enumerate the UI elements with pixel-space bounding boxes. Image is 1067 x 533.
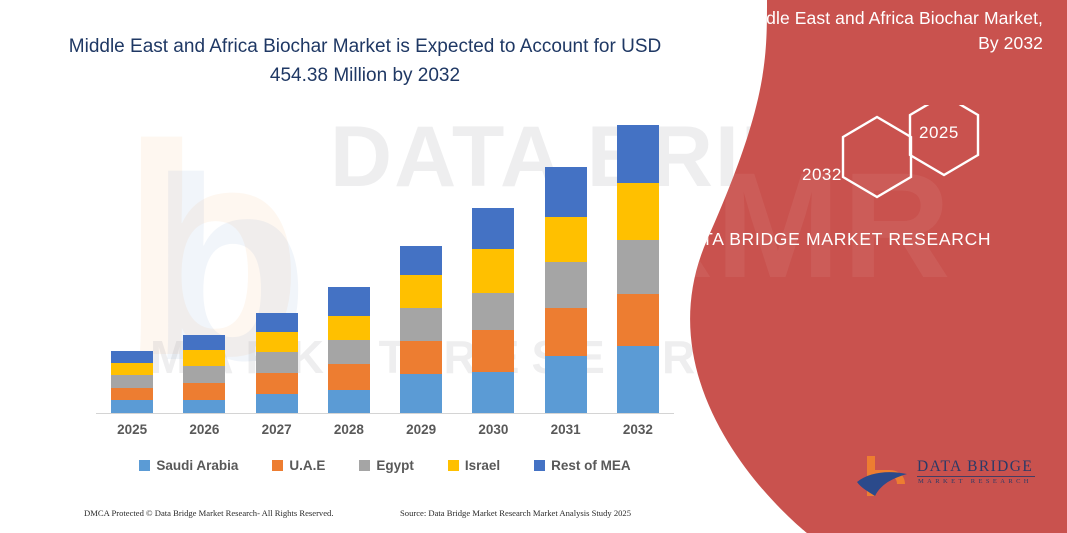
legend-item-rest-of-mea[interactable]: Rest of MEA [534,458,631,473]
bar-segment-saudi-arabia [328,390,370,414]
bar-2029[interactable] [400,246,442,414]
bar-segment-saudi-arabia [472,372,514,414]
hexagon-2025-label: 2025 [919,123,959,143]
legend-label: Israel [465,458,500,473]
hexagon-2032-shape [843,117,911,197]
footer-copyright: DMCA Protected © Data Bridge Market Rese… [84,508,334,518]
panel-title: Middle East and Africa Biochar Market, B… [713,6,1043,57]
bar-segment-rest-of-mea [328,287,370,315]
x-tick-2027: 2027 [247,422,307,437]
logo-tagline: MARKET RESEARCH [918,478,1032,485]
bar-segment-egypt [111,375,153,388]
bar-segment-u-a-e [400,341,442,374]
legend-swatch-icon [534,460,545,471]
legend-item-israel[interactable]: Israel [448,458,500,473]
bar-segment-u-a-e [256,373,298,394]
hexagon-2032-label: 2032 [802,165,842,185]
brand-name: DATA BRIDGE MARKET RESEARCH [647,226,1067,252]
x-axis-line [96,413,674,414]
bar-2026[interactable] [183,335,225,414]
bar-segment-egypt [617,240,659,293]
legend-label: Rest of MEA [551,458,631,473]
bar-segment-israel [617,183,659,241]
bar-segment-rest-of-mea [183,335,225,351]
bar-segment-saudi-arabia [617,346,659,414]
legend-item-u-a-e[interactable]: U.A.E [272,458,325,473]
bar-segment-rest-of-mea [256,313,298,333]
bar-segment-saudi-arabia [111,400,153,414]
bar-segment-saudi-arabia [400,374,442,414]
bar-segment-saudi-arabia [545,356,587,414]
bar-segment-israel [111,363,153,376]
infographic-canvas: b b DATA BRIDGE MARKET RESEARCH Middle E… [0,0,1067,533]
bar-segment-egypt [472,293,514,331]
legend-label: Saudi Arabia [156,458,238,473]
legend-label: Egypt [376,458,414,473]
x-tick-2028: 2028 [319,422,379,437]
bar-segment-u-a-e [472,330,514,372]
bar-segment-israel [545,217,587,262]
bar-segment-u-a-e [545,308,587,356]
legend-swatch-icon [272,460,283,471]
bar-segment-egypt [328,340,370,364]
bar-segment-israel [472,249,514,293]
x-tick-2032: 2032 [608,422,668,437]
bar-segment-rest-of-mea [400,246,442,275]
legend-swatch-icon [359,460,370,471]
bar-segment-rest-of-mea [617,125,659,183]
x-axis-tick-labels: 20252026202720282029203020312032 [96,422,674,446]
bar-2031[interactable] [545,167,587,414]
bar-segment-israel [256,332,298,352]
logo-divider [917,476,1035,477]
bar-segment-rest-of-mea [472,208,514,249]
bar-segment-u-a-e [617,294,659,346]
logo-mark-icon [855,452,915,502]
bar-segment-egypt [400,308,442,340]
bar-2027[interactable] [256,313,298,414]
bar-segment-u-a-e [183,383,225,401]
hexagon-group: 2025 2032 [767,105,1027,245]
footer: DMCA Protected © Data Bridge Market Rese… [84,508,684,524]
bar-segment-israel [183,350,225,366]
bar-segment-egypt [183,366,225,383]
bar-2025[interactable] [111,351,153,414]
data-bridge-logo: DATA BRIDGE MARKET RESEARCH [855,452,1045,504]
bar-segment-u-a-e [328,364,370,390]
bar-2030[interactable] [472,208,514,414]
bar-segment-egypt [545,262,587,308]
stacked-bar-chart [96,100,674,414]
x-tick-2025: 2025 [102,422,162,437]
bar-segment-u-a-e [111,388,153,401]
bar-segment-egypt [256,352,298,373]
bar-segment-rest-of-mea [545,167,587,217]
bar-2032[interactable] [617,125,659,414]
chart-title: Middle East and Africa Biochar Market is… [66,33,664,90]
x-tick-2026: 2026 [174,422,234,437]
footer-source: Source: Data Bridge Market Research Mark… [400,508,631,518]
bar-segment-saudi-arabia [256,394,298,414]
bar-segment-rest-of-mea [111,351,153,363]
bar-2028[interactable] [328,287,370,414]
x-tick-2029: 2029 [391,422,451,437]
bar-segment-israel [328,316,370,340]
legend-item-saudi-arabia[interactable]: Saudi Arabia [139,458,238,473]
legend-swatch-icon [139,460,150,471]
x-tick-2030: 2030 [463,422,523,437]
legend-item-egypt[interactable]: Egypt [359,458,414,473]
chart-legend: Saudi ArabiaU.A.EEgyptIsraelRest of MEA [96,453,674,477]
legend-swatch-icon [448,460,459,471]
bar-segment-israel [400,275,442,308]
logo-wordmark: DATA BRIDGE [917,458,1033,476]
x-tick-2031: 2031 [536,422,596,437]
bar-segment-saudi-arabia [183,400,225,414]
brand-panel: RMR Middle East and Africa Biochar Marke… [647,0,1067,533]
legend-label: U.A.E [289,458,325,473]
